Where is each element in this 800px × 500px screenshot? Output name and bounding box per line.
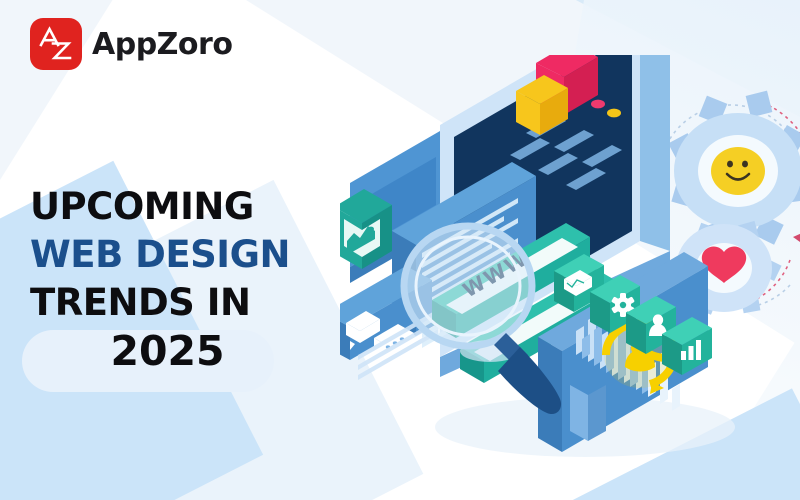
- brand-name: AppZoro: [92, 27, 232, 62]
- headline-year: 2025: [30, 327, 360, 375]
- gear-large: [668, 91, 800, 248]
- smiley-face-icon: [711, 147, 765, 195]
- brand-logo: AppZoro: [30, 18, 232, 70]
- banner-canvas: AppZoro UPCOMING WEB DESIGN TRENDS IN 20…: [0, 0, 800, 500]
- headline-line-2: WEB DESIGN: [30, 231, 360, 279]
- hero-illustration: WWW: [340, 55, 800, 475]
- logo-mark-icon: [30, 18, 82, 70]
- headline-line-1: UPCOMING: [30, 183, 360, 231]
- headline-block: UPCOMING WEB DESIGN TRENDS IN 2025: [30, 183, 360, 375]
- headline-line-3: TRENDS IN: [30, 279, 360, 327]
